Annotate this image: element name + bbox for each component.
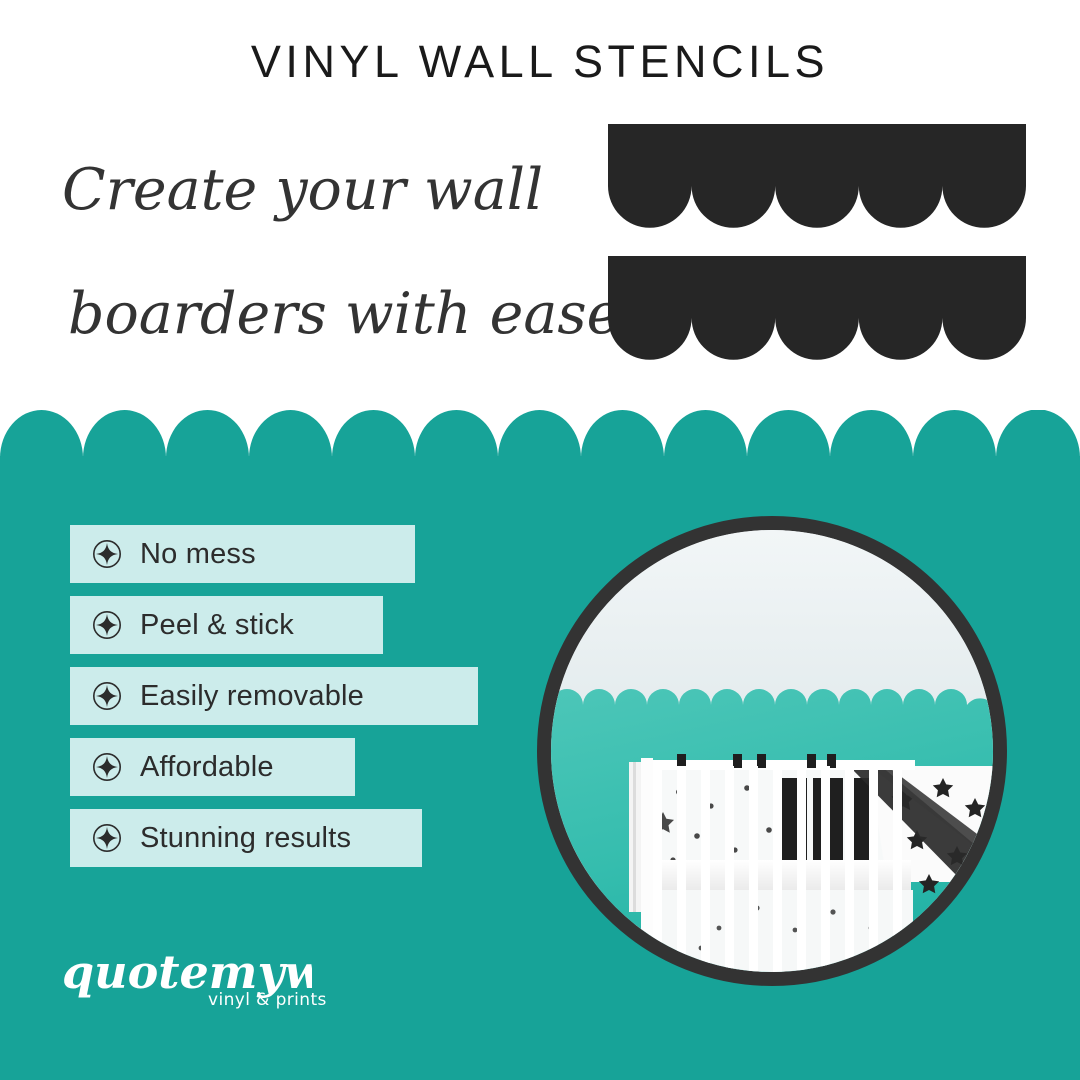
feature-label: No mess (140, 538, 256, 571)
nursery-crib-photo (551, 530, 993, 972)
feature-item-no-mess[interactable]: No mess (70, 525, 415, 583)
four-point-star-icon (92, 610, 122, 640)
page-title: VINYL WALL STENCILS (0, 36, 1080, 88)
feature-list: No mess Peel & stick Easily removable Af… (70, 525, 500, 880)
poster-canvas: VINYL WALL STENCILS Create your wall boa… (0, 0, 1080, 1080)
four-point-star-icon (92, 539, 122, 569)
four-point-star-icon (92, 823, 122, 853)
stencil-sample-group (608, 124, 1026, 372)
feature-item-affordable[interactable]: Affordable (70, 738, 355, 796)
feature-item-peel-stick[interactable]: Peel & stick (70, 596, 383, 654)
feature-label: Easily removable (140, 680, 364, 713)
feature-label: Stunning results (140, 822, 351, 855)
tagline-line-1: Create your wall (62, 128, 582, 252)
tagline-line-2: boarders with ease.. (62, 252, 582, 376)
four-point-star-icon (92, 752, 122, 782)
logo-tagline: vinyl & prints (208, 990, 327, 1010)
scalloped-stencil-bar-icon (608, 124, 1026, 240)
scalloped-stencil-bar-icon-2 (608, 256, 1026, 372)
brand-logo[interactable]: quotemywall vinyl & prints (62, 930, 362, 1020)
top-section: VINYL WALL STENCILS Create your wall boa… (0, 0, 1080, 420)
feature-item-stunning-results[interactable]: Stunning results (70, 809, 422, 867)
feature-label: Affordable (140, 751, 274, 784)
scalloped-divider-icon (0, 410, 1080, 458)
feature-item-easily-removable[interactable]: Easily removable (70, 667, 478, 725)
tagline-block: Create your wall boarders with ease.. (62, 128, 582, 376)
feature-label: Peel & stick (140, 609, 294, 642)
nursery-photo-circle[interactable] (537, 516, 1007, 986)
four-point-star-icon (92, 681, 122, 711)
